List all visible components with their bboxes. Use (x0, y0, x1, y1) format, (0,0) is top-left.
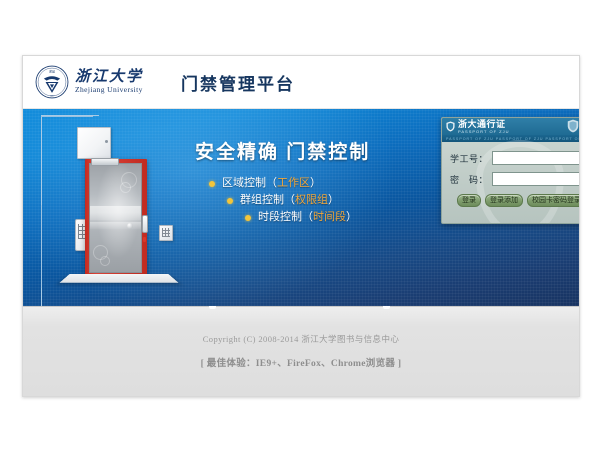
hero-banner: 安全精确 门禁控制 区域控制（工作区） 群组控制（权限组） 时段控制（时间段） (23, 109, 579, 306)
feature-label-end: ） (328, 192, 339, 209)
wire-horizontal-lower (41, 116, 93, 117)
panel-title-cn: 浙大通行证 (458, 120, 509, 129)
login-button-row: 登录 登录添加 校园卡密码登录 (450, 193, 574, 207)
wire-vertical-right-outer (41, 117, 42, 205)
shield-icon-right (567, 119, 579, 133)
login-button[interactable]: 登录 (457, 194, 481, 207)
svg-text:求是: 求是 (49, 68, 55, 73)
footer-notch (383, 306, 390, 309)
door-knob-icon (127, 223, 133, 229)
door-closer-icon (91, 158, 119, 166)
footer-notch (209, 306, 216, 309)
card-reader-keys (162, 228, 170, 237)
login-panel-header: 浙大通行证 PASSPORT OF ZJU (442, 118, 579, 135)
site-footer: Copyright (C) 2008-2014 浙江大学图书与信息中心 [ 最佳… (23, 306, 579, 397)
yellow-dot-icon (227, 198, 233, 204)
campus-card-login-button[interactable]: 校园卡密码登录 (527, 194, 579, 207)
login-form: 学工号： 密 码： 登录 登录添加 校园卡密码登录 (442, 142, 579, 207)
feature-label-end: ） (310, 175, 321, 192)
field-row-id: 学工号： (450, 151, 574, 165)
feature-label-end: ） (346, 209, 357, 226)
feature-label: 区域控制（ (222, 175, 277, 192)
wire-vertical-left (41, 288, 42, 306)
feature-item-time-control: 时段控制（时间段） (245, 209, 357, 226)
door-highlight-band (90, 206, 141, 220)
page-title: 门禁管理平台 (181, 70, 295, 95)
access-control-door-illustration (41, 115, 201, 305)
shield-icon (446, 121, 455, 132)
feature-list: 区域控制（工作区） 群组控制（权限组） 时段控制（时间段） (209, 175, 357, 226)
feature-label: 时段控制（ (258, 209, 313, 226)
feature-item-area-control: 区域控制（工作区） (209, 175, 357, 192)
door-handle-icon (142, 215, 148, 233)
card-reader-icon (159, 225, 173, 241)
password-field[interactable] (492, 172, 579, 186)
yellow-dot-icon (245, 215, 251, 221)
controller-box-icon (77, 127, 111, 159)
panel-title-block: 浙大通行证 PASSPORT OF ZJU (458, 120, 509, 134)
university-logo[interactable]: 求是 1897 浙江大学 Zhejiang University (35, 64, 143, 100)
feature-highlight: 工作区 (277, 175, 310, 192)
yellow-dot-icon (209, 181, 215, 187)
password-label: 密 码： (450, 173, 488, 186)
panel-title-en: PASSPORT OF ZJU (458, 129, 509, 134)
passport-strip-text: PASSPORT OF ZJU PASSPORT OF ZJU PASSPORT… (442, 137, 579, 141)
browser-compatibility-note: [ 最佳体验：IE9+、FireFox、Chrome浏览器 ] (23, 355, 579, 369)
feature-label: 群组控制（ (240, 192, 295, 209)
student-staff-id-label: 学工号： (450, 152, 488, 165)
zju-seal-icon: 求是 1897 (35, 65, 69, 99)
door-highlight-band-2 (90, 222, 141, 229)
door-status-led (143, 237, 146, 242)
passport-strip: PASSPORT OF ZJU PASSPORT OF ZJU PASSPORT… (442, 135, 579, 142)
door-leaf (89, 163, 142, 273)
red-door-frame (85, 159, 147, 275)
copyright-text: Copyright (C) 2008-2014 浙江大学图书与信息中心 (23, 333, 579, 345)
student-staff-id-field[interactable] (492, 151, 579, 165)
gear-decoration-icon (120, 182, 131, 193)
wire-vertical-right-inner (41, 205, 42, 288)
banner-slogan: 安全精确 门禁控制 (195, 137, 370, 164)
university-wordmark: 浙江大学 Zhejiang University (75, 69, 143, 95)
login-panel: 浙大通行证 PASSPORT OF ZJU PASSPORT OF ZJU PA… (441, 117, 579, 224)
feature-highlight: 权限组 (295, 192, 328, 209)
feature-highlight: 时间段 (313, 209, 346, 226)
field-row-password: 密 码： (450, 172, 574, 186)
svg-text:1897: 1897 (50, 95, 56, 98)
feature-item-group-control: 群组控制（权限组） (227, 192, 357, 209)
gear-decoration-icon (100, 256, 110, 266)
university-name-en: Zhejiang University (75, 85, 143, 95)
university-name-cn: 浙江大学 (75, 69, 143, 85)
site-header: 求是 1897 浙江大学 Zhejiang University 门禁管理平台 (23, 56, 579, 109)
login-add-button[interactable]: 登录添加 (485, 194, 523, 207)
page-container: 求是 1897 浙江大学 Zhejiang University 门禁管理平台 (22, 55, 580, 397)
floor-plate (60, 274, 179, 283)
